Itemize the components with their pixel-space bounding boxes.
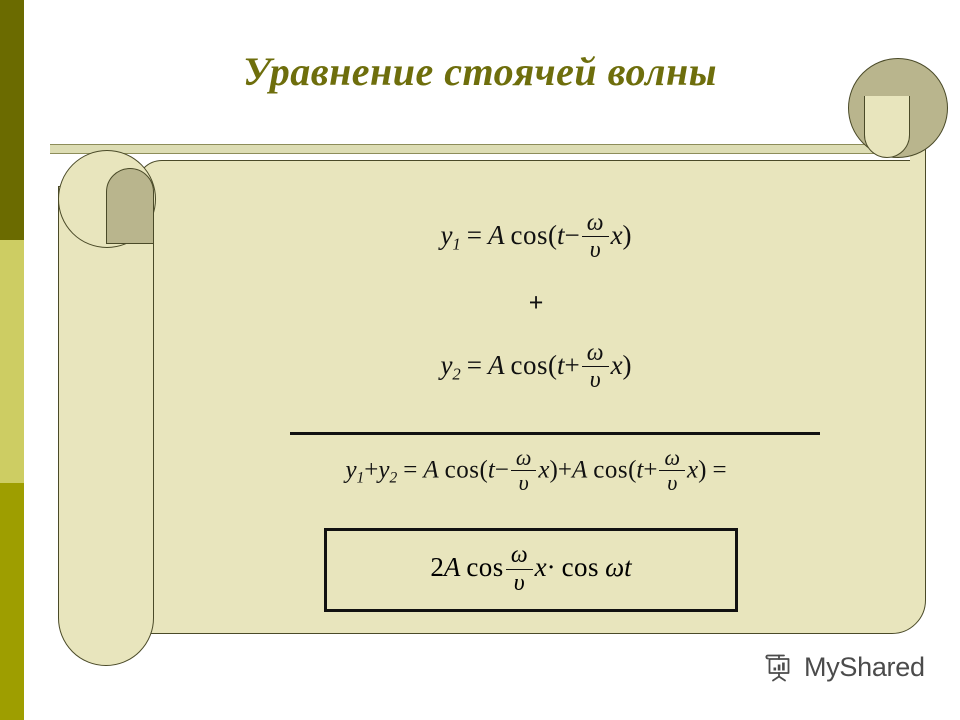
wave1-lhs-subscript: 1	[452, 234, 460, 253]
presentation-chart-icon	[762, 650, 796, 684]
scroll-left-roll	[58, 186, 154, 666]
sum-fraction-1-numerator: ω	[511, 447, 537, 471]
wave1-function: cos	[511, 220, 549, 250]
sum-middle-plus: +	[558, 457, 572, 484]
sum-lhs-y2-subscript: 2	[390, 470, 398, 487]
wave1-equals: =	[467, 220, 482, 250]
wave2-fraction-denominator: υ	[582, 367, 609, 392]
left-edge-stripe	[0, 0, 24, 720]
formula-area: y1=Acos(t−ωυx) + y2=Acos(t+ωυx) y1+y2=Ac…	[156, 170, 916, 620]
result-function-1: cos	[466, 552, 504, 582]
scroll-right-curl-notch	[864, 96, 910, 158]
wave1-sign: −	[565, 220, 580, 250]
sum-sign-2: +	[643, 457, 657, 484]
sum-fraction-1: ωυ	[511, 447, 537, 495]
wave2-fraction: ωυ	[582, 341, 609, 392]
sum-fraction-2-numerator: ω	[659, 447, 685, 471]
result-function-2: cos	[562, 552, 600, 582]
wave2-sign: +	[565, 350, 580, 380]
result-fraction: ωυ	[506, 543, 533, 594]
result-omega: ω	[605, 552, 624, 582]
sum-fraction-2-denominator: υ	[659, 471, 685, 494]
sum-variable-1: x	[538, 457, 549, 484]
sum-equals: =	[403, 457, 417, 484]
stripe-band-top	[0, 0, 24, 240]
result-fraction-denominator: υ	[506, 570, 533, 595]
wave2-amplitude: A	[488, 350, 505, 380]
myshared-watermark: MyShared	[762, 650, 925, 684]
wave1-fraction: ωυ	[582, 211, 609, 262]
formula-superposition: y1+y2=Acos(t−ωυx)+Acos(t+ωυx)=	[156, 448, 916, 496]
wave1-open-paren: (	[548, 220, 557, 250]
wave2-lhs-subscript: 2	[452, 364, 460, 383]
wave2-equals: =	[467, 350, 482, 380]
sum-function-1: cos	[445, 457, 480, 484]
sum-function-2: cos	[593, 457, 628, 484]
sum-close-paren-2: )	[698, 457, 706, 484]
sum-lhs-plus: +	[364, 457, 378, 484]
result-variable: x	[535, 552, 547, 582]
wave1-lhs: y	[440, 220, 452, 250]
sum-time-1: t	[488, 457, 495, 484]
result-fraction-numerator: ω	[506, 543, 533, 569]
wave1-fraction-numerator: ω	[582, 211, 609, 237]
stripe-band-bottom	[0, 483, 24, 720]
wave2-close-paren: )	[623, 350, 632, 380]
formula-operator-plus: +	[156, 288, 916, 318]
result-box: 2Acosωυx·cosωt	[324, 528, 738, 612]
sum-lhs-y2: y	[378, 457, 389, 484]
result-dot-operator: ·	[547, 552, 556, 582]
sum-fraction-1-denominator: υ	[511, 471, 537, 494]
result-amplitude: A	[444, 552, 461, 582]
wave1-time: t	[557, 220, 565, 250]
sum-divider-line	[290, 432, 820, 435]
sum-lhs-y1: y	[345, 457, 356, 484]
wave1-amplitude: A	[488, 220, 505, 250]
stripe-band-middle	[0, 240, 24, 483]
wave2-variable: x	[611, 350, 623, 380]
sum-sign-1: −	[495, 457, 509, 484]
sum-open-paren-1: (	[479, 457, 487, 484]
wave2-lhs: y	[440, 350, 452, 380]
formula-wave-2: y2=Acos(t+ωυx)	[156, 342, 916, 393]
formula-wave-1: y1=Acos(t−ωυx)	[156, 212, 916, 263]
wave2-time: t	[557, 350, 565, 380]
sum-amplitude-2: A	[572, 457, 587, 484]
sum-fraction-2: ωυ	[659, 447, 685, 495]
wave1-variable: x	[611, 220, 623, 250]
wave2-function: cos	[511, 350, 549, 380]
result-coefficient: 2	[430, 552, 444, 582]
scroll-left-curl-tab	[106, 168, 154, 244]
sum-variable-2: x	[687, 457, 698, 484]
page-title: Уравнение стоячей волны	[60, 48, 900, 95]
myshared-label: MyShared	[804, 652, 925, 683]
wave1-fraction-denominator: υ	[582, 237, 609, 262]
result-time: t	[624, 552, 632, 582]
wave2-fraction-numerator: ω	[582, 341, 609, 367]
sum-amplitude-1: A	[423, 457, 438, 484]
sum-close-paren-1: )	[550, 457, 558, 484]
wave2-open-paren: (	[548, 350, 557, 380]
sum-trailing-equals: =	[712, 457, 726, 484]
wave1-close-paren: )	[623, 220, 632, 250]
parchment-scroll: y1=Acos(t−ωυx) + y2=Acos(t+ωυx) y1+y2=Ac…	[58, 150, 926, 634]
